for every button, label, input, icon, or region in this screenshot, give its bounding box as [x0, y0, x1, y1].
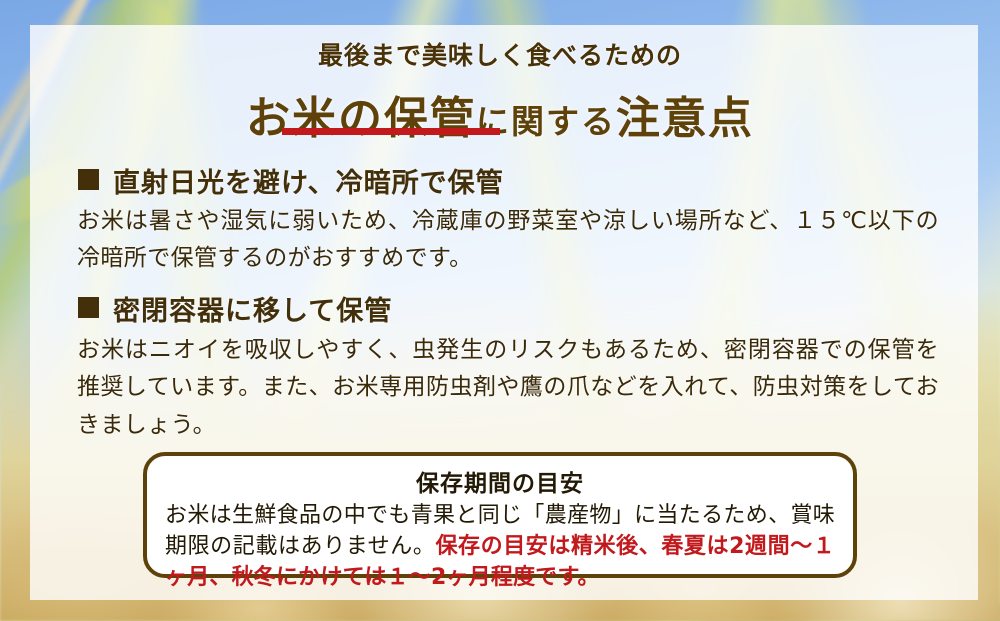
section-heading-2: 密閉容器に移して保管 — [78, 289, 392, 328]
callout-body: お米は生鮮食品の中でも青果と同じ「農産物」に当たるため、賞味期限の記載はありませ… — [165, 500, 835, 594]
title-red-underline — [282, 128, 500, 135]
title-segment-keyword: お米の保管 — [246, 93, 476, 144]
title-segment-subject: 注意点 — [616, 93, 754, 144]
section-heading-2-label: 密閉容器に移して保管 — [113, 296, 392, 327]
section-body-1: お米は暑さや湿気に弱いため、冷蔵庫の野菜室や涼しい場所など、１５℃以下の冷暗所で… — [77, 203, 939, 278]
section-body-2: お米はニオイを吸収しやすく、虫発生のリスクもあるため、密閉容器での保管を推奨して… — [77, 332, 939, 444]
poster-title-wrap: お米の保管に関する注意点 — [0, 82, 1000, 146]
poster-subtitle: 最後まで美味しく食べるための — [0, 36, 1000, 72]
content-layer: 最後まで美味しく食べるための お米の保管に関する注意点 直射日光を避け、冷暗所で… — [0, 0, 1000, 621]
section-heading-1-label: 直射日光を避け、冷暗所で保管 — [113, 168, 504, 199]
square-bullet-icon — [78, 297, 99, 318]
poster-root: 最後まで美味しく食べるための お米の保管に関する注意点 直射日光を避け、冷暗所で… — [0, 0, 1000, 621]
page-title: お米の保管に関する注意点 — [246, 82, 754, 146]
square-bullet-icon — [78, 169, 99, 190]
storage-period-callout: 保存期間の目安 お米は生鮮食品の中でも青果と同じ「農産物」に当たるため、賞味期限… — [143, 452, 857, 578]
title-segment-connector: に関する — [476, 102, 616, 141]
section-heading-1: 直射日光を避け、冷暗所で保管 — [78, 161, 504, 200]
callout-title: 保存期間の目安 — [165, 464, 835, 498]
